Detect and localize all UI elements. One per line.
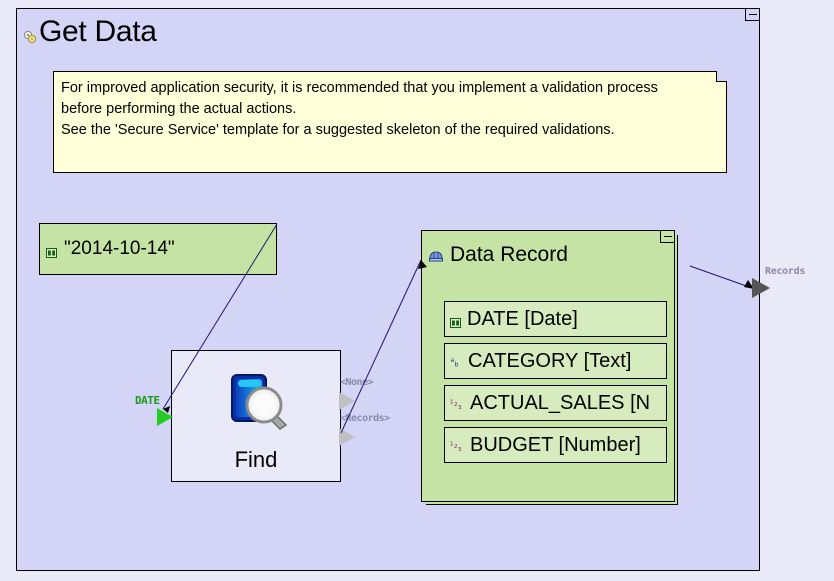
record-field-row[interactable]: 1 2 3 BUDGET [Number] (444, 427, 667, 463)
boundary-output-label: Records (765, 266, 805, 277)
find-output-port-none-label: <None> (340, 377, 373, 388)
minimize-icon (664, 236, 672, 237)
flow-collapse-button[interactable] (745, 8, 760, 21)
find-node-label: Find (172, 447, 340, 473)
find-input-port[interactable] (157, 408, 173, 426)
record-field-row[interactable]: a b CATEGORY [Text] (444, 343, 667, 379)
svg-text:3: 3 (458, 447, 462, 452)
database-search-icon (222, 367, 294, 439)
record-icon (429, 249, 443, 261)
screenshot-root: Get Data For improved application securi… (0, 0, 834, 581)
date-icon (450, 315, 461, 325)
note-box: For improved application security, it is… (53, 71, 727, 173)
gear-icon (23, 30, 37, 44)
find-output-port-records[interactable] (339, 428, 355, 446)
find-output-port-none[interactable] (339, 392, 355, 410)
date-constant-value: "2014-10-14" (64, 238, 175, 260)
find-node[interactable]: Find (171, 350, 341, 482)
record-field-label: CATEGORY [Text] (468, 350, 631, 373)
find-output-port-records-label: <Records> (340, 413, 390, 424)
record-field-label: ACTUAL_SALES [N (470, 392, 650, 415)
page-title: Get Data (39, 17, 157, 47)
flow-title-row: Get Data (23, 17, 157, 47)
data-record-field-list: DATE [Date] a b CATEGORY [Text] 1 (444, 301, 667, 469)
svg-text:2: 2 (454, 444, 458, 450)
note-line: See the 'Secure Service' template for a … (61, 120, 718, 141)
minimize-icon (749, 14, 757, 15)
data-record-title: Data Record (450, 243, 568, 267)
data-record-header: Data Record (429, 243, 568, 267)
svg-text:b: b (455, 362, 459, 369)
find-input-port-label: DATE (135, 394, 160, 407)
svg-text:1: 1 (450, 442, 454, 448)
record-field-label: BUDGET [Number] (470, 434, 641, 457)
number-icon: 1 2 3 (450, 439, 464, 451)
boundary-output-port[interactable] (752, 278, 770, 298)
record-field-row[interactable]: 1 2 3 ACTUAL_SALES [N (444, 385, 667, 421)
svg-text:3: 3 (458, 405, 462, 410)
flow-container: Get Data For improved application securi… (16, 8, 760, 571)
record-collapse-button[interactable] (660, 230, 675, 243)
svg-text:1: 1 (450, 400, 454, 406)
number-icon: 1 2 3 (450, 397, 464, 409)
svg-text:2: 2 (454, 402, 458, 408)
note-text: For improved application security, it is… (61, 78, 718, 141)
note-line: before performing the actual actions. (61, 99, 718, 120)
date-constant-box[interactable]: "2014-10-14" (39, 223, 277, 275)
note-line: For improved application security, it is… (61, 78, 718, 99)
record-field-row[interactable]: DATE [Date] (444, 301, 667, 337)
text-icon: a b (450, 355, 462, 367)
date-icon (46, 245, 57, 255)
data-record-box[interactable]: Data Record DATE [Date] (421, 230, 675, 502)
record-field-label: DATE [Date] (467, 308, 578, 331)
